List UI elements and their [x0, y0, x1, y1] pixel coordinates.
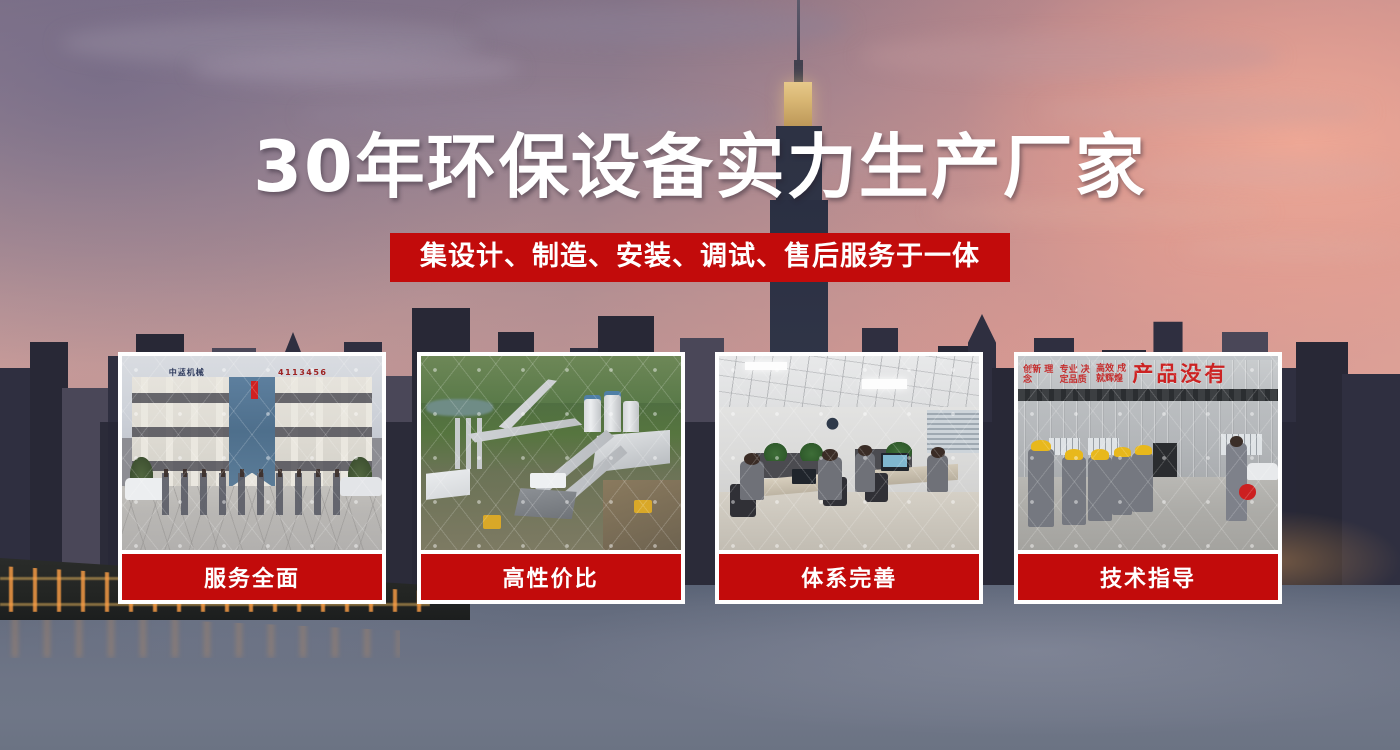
photo-hard-hat	[1091, 449, 1109, 460]
photo-pond	[426, 399, 494, 416]
feature-card[interactable]: 体系完善	[715, 352, 983, 604]
card-photo-company-building: 中蓝机械 4113456	[122, 356, 382, 550]
photo-ceiling-light	[862, 379, 906, 389]
photo-floor	[719, 492, 979, 550]
photo-red-helmet	[1239, 484, 1256, 500]
photo-warehouse	[426, 469, 470, 500]
photo-wall-slogan-large: 产品没有	[1132, 360, 1272, 387]
photo-wall-slogan-small: 专业 决定品质	[1060, 366, 1094, 385]
photo-person-head	[822, 449, 838, 461]
card-photo-office-interior	[719, 356, 979, 550]
photo-person	[818, 457, 841, 500]
photo-excavator	[483, 515, 501, 529]
photo-staff-heads	[156, 469, 348, 477]
photo-silo	[604, 395, 621, 432]
page-title: 30年环保设备实力生产厂家	[0, 132, 1400, 202]
photo-phone-number: 4113456	[278, 366, 372, 380]
photo-potted-plant	[764, 443, 787, 460]
photo-wall-vent-band	[1018, 389, 1278, 401]
photo-silo	[623, 401, 639, 432]
photo-person-head	[931, 447, 945, 458]
photo-worker	[1062, 457, 1085, 525]
photo-person	[927, 455, 948, 492]
photo-hard-hat	[1114, 447, 1131, 457]
photo-company-sign: 中蓝机械	[169, 366, 247, 380]
card-photo-factory-workers: 创新 理念 专业 决定品质 高效 成就辉煌 产品没有	[1018, 356, 1278, 550]
feature-card-row: 中蓝机械 4113456 服务全面	[118, 352, 1282, 604]
subtitle-banner-wrap: 集设计、制造、安装、调试、售后服务于一体	[0, 233, 1400, 282]
tower-antenna-base	[794, 60, 803, 82]
photo-hard-hat	[1031, 440, 1051, 452]
photo-wall-slogan-small: 创新 理念	[1023, 366, 1057, 385]
photo-car	[1247, 463, 1278, 480]
photo-preheater-tower	[452, 418, 488, 469]
tower-lit-crown	[784, 82, 812, 128]
photo-laptop	[792, 469, 815, 485]
photo-supervisor-head	[1230, 436, 1243, 448]
photo-worker	[1112, 455, 1133, 515]
photo-worker	[1088, 457, 1111, 521]
photo-earthworks	[603, 480, 681, 550]
photo-wall-decal	[816, 412, 850, 437]
promo-banner: 30年环保设备实力生产厂家 集设计、制造、安装、调试、售后服务于一体 中蓝机械 …	[0, 0, 1400, 750]
photo-person	[855, 453, 876, 492]
photo-flag	[251, 381, 259, 398]
photo-worker	[1028, 449, 1054, 527]
photo-worker	[1132, 453, 1153, 511]
photo-silo	[584, 399, 601, 432]
photo-excavator	[634, 500, 652, 514]
photo-staff-row	[156, 473, 348, 516]
photo-hard-hat	[1135, 445, 1152, 455]
feature-card[interactable]: 中蓝机械 4113456 服务全面	[118, 352, 386, 604]
card-photo-industrial-plant	[421, 356, 681, 550]
photo-supervisor	[1226, 443, 1247, 521]
feature-card[interactable]: 高性价比	[417, 352, 685, 604]
card-caption: 技术指导	[1018, 554, 1278, 600]
photo-wall-slogan-small: 高效 成就辉煌	[1096, 364, 1132, 385]
photo-hard-hat	[1065, 449, 1083, 460]
photo-person	[740, 461, 763, 500]
photo-truck	[530, 473, 566, 489]
photo-person-head	[744, 453, 760, 465]
photo-monitor-screen	[883, 455, 906, 467]
card-caption: 服务全面	[122, 554, 382, 600]
photo-shed	[514, 488, 576, 519]
card-caption: 高性价比	[421, 554, 681, 600]
photo-ceiling-light	[745, 362, 787, 370]
subtitle-banner: 集设计、制造、安装、调试、售后服务于一体	[390, 233, 1010, 282]
card-caption: 体系完善	[719, 554, 979, 600]
feature-card[interactable]: 创新 理念 专业 决定品质 高效 成就辉煌 产品没有	[1014, 352, 1282, 604]
photo-far-fields	[421, 356, 681, 403]
